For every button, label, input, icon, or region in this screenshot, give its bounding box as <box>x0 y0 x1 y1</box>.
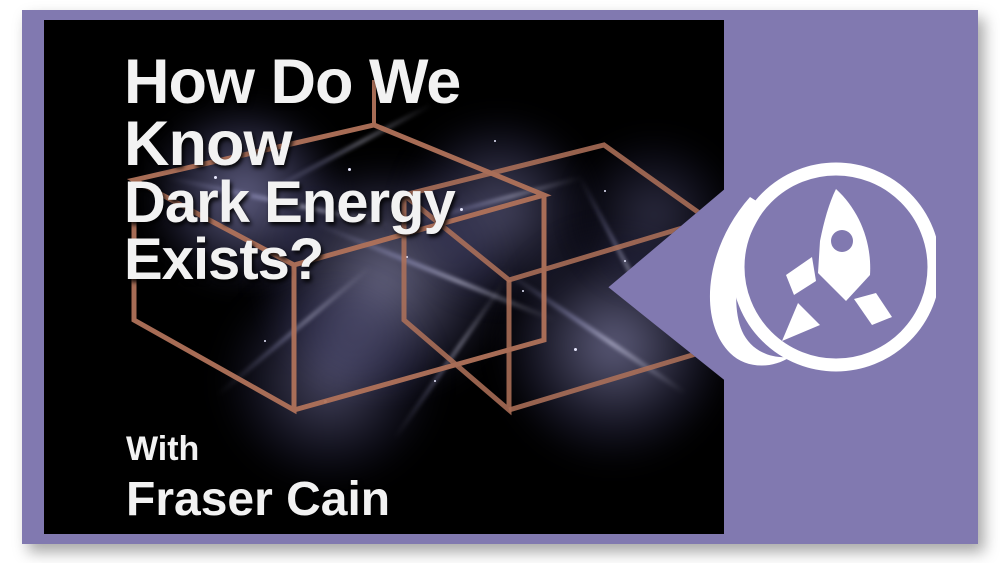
rocket-window-icon <box>831 230 853 252</box>
thumbnail-image: How Do We Know Dark Energy Exists? With … <box>0 0 1000 563</box>
black-content-panel: How Do We Know Dark Energy Exists? With … <box>44 20 724 534</box>
with-label: With <box>126 430 199 469</box>
title-line-3: Dark Energy <box>124 175 664 232</box>
thumbnail-frame: How Do We Know Dark Energy Exists? With … <box>22 10 978 544</box>
rocket-icon <box>782 189 892 341</box>
title-line-1: How Do We <box>124 52 664 114</box>
rocket-logo <box>686 145 936 395</box>
star-speck <box>664 320 667 323</box>
title-line-2: Know <box>124 114 664 176</box>
title-line-4: Exists? <box>124 232 664 289</box>
video-title: How Do We Know Dark Energy Exists? <box>124 52 664 289</box>
host-name: Fraser Cain <box>126 472 390 527</box>
